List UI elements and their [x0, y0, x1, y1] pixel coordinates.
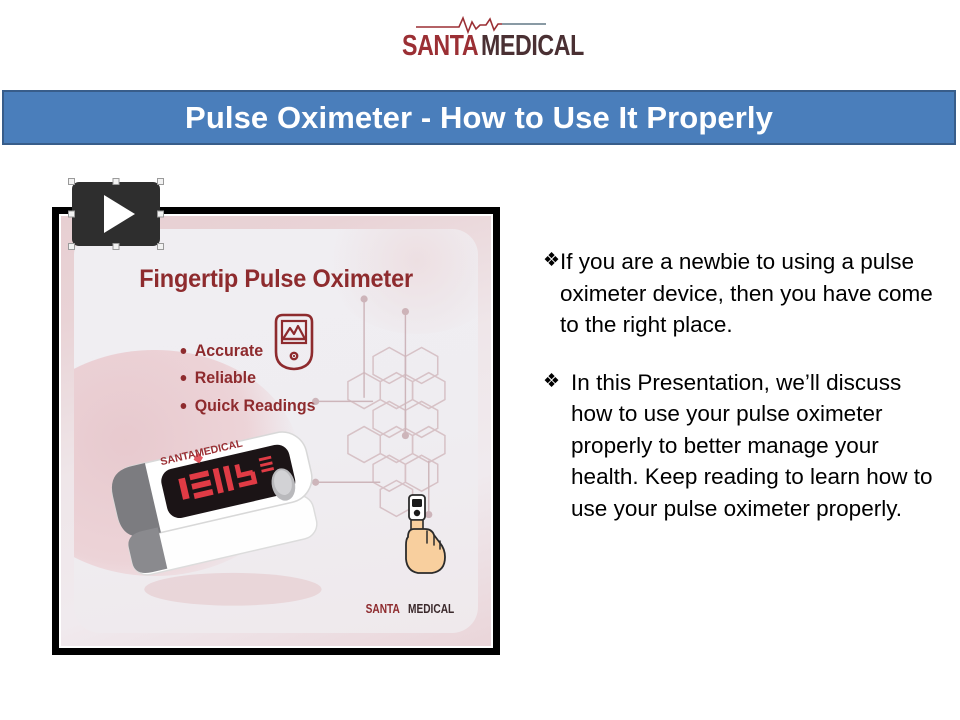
brand-name-medical: MEDICAL: [481, 32, 584, 61]
selection-handle-middle-left[interactable]: [68, 211, 75, 218]
brand-logo: SANTA MEDICAL: [0, 8, 960, 70]
selection-handle-top-right[interactable]: [157, 178, 164, 185]
hand-with-oximeter-icon: [394, 493, 454, 577]
bullet-item-2: ❖ In this Presentation, we’ll discuss ho…: [543, 367, 935, 525]
slide-title-bar: Pulse Oximeter - How to Use It Properly: [2, 90, 956, 145]
bullet-item-1: ❖ If you are a newbie to using a pulse o…: [543, 246, 935, 341]
selection-handle-bottom-right[interactable]: [157, 243, 164, 250]
play-button[interactable]: [72, 182, 160, 246]
selection-handle-middle-right[interactable]: [157, 211, 164, 218]
diamond-bullet-icon: ❖: [543, 367, 560, 398]
video-object[interactable]: Fingertip Pulse Oximeter Accurate Reliab…: [52, 207, 500, 655]
bullet-text-2: In this Presentation, we’ll discuss how …: [571, 367, 935, 525]
selection-handle-bottom-left[interactable]: [68, 243, 75, 250]
video-thumbnail[interactable]: Fingertip Pulse Oximeter Accurate Reliab…: [61, 216, 491, 646]
selection-handle-top-center[interactable]: [113, 178, 120, 185]
video-play-control[interactable]: [68, 178, 164, 250]
content-text-pane: ❖ If you are a newbie to using a pulse o…: [543, 246, 935, 524]
brand-name-santa: SANTA: [402, 32, 478, 61]
page-title: Pulse Oximeter - How to Use It Properly: [185, 100, 773, 136]
thumbnail-card: Fingertip Pulse Oximeter Accurate Reliab…: [74, 229, 478, 633]
diamond-bullet-icon: ❖: [543, 246, 560, 277]
thumbnail-logo-santa: SANTA: [365, 601, 399, 616]
fingertip-pulse-oximeter-device: SANTAMEDICAL: [98, 415, 349, 617]
selection-handle-top-left[interactable]: [68, 178, 75, 185]
thumbnail-logo-medical: MEDICAL: [408, 601, 454, 616]
thumbnail-brand-logo: SANTA MEDICAL: [376, 601, 454, 617]
bullet-text-1: If you are a newbie to using a pulse oxi…: [560, 246, 935, 341]
selection-handle-bottom-center[interactable]: [113, 243, 120, 250]
play-triangle-icon: [104, 195, 135, 233]
pulse-oximeter-outline-icon: [272, 312, 316, 372]
